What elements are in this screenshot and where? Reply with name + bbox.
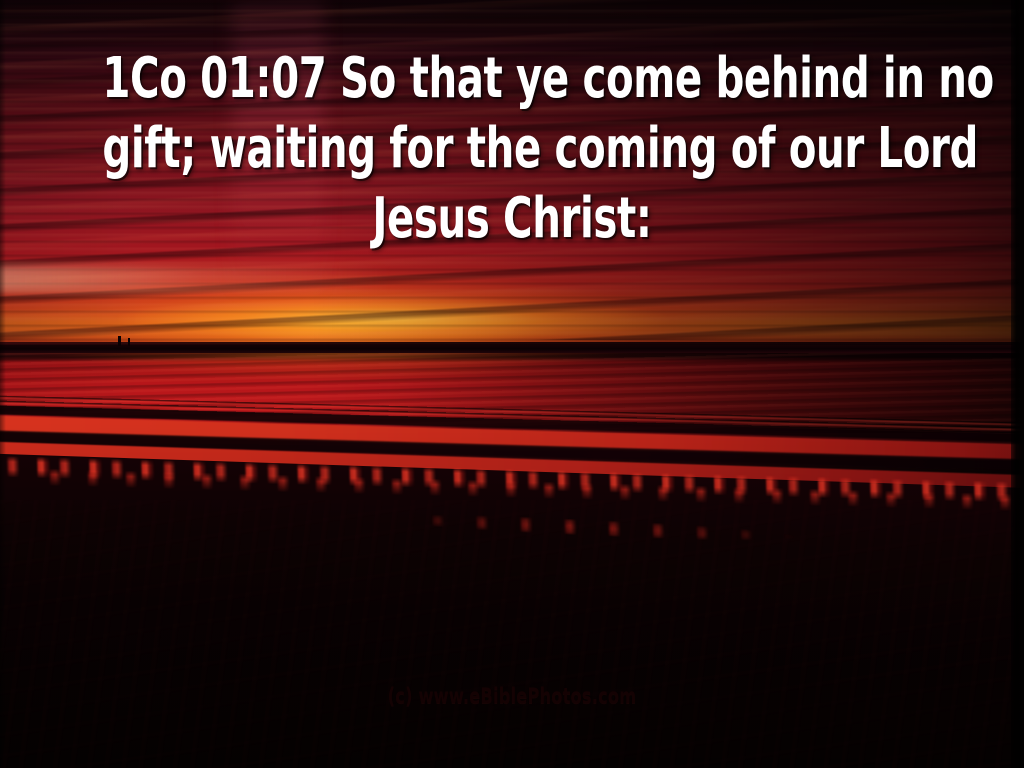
horizon-land-silhouette [0, 344, 1024, 353]
right-edge-shadow [1011, 0, 1024, 768]
watermark-text: (c) www.eBiblePhotos.com [72, 686, 953, 707]
horizon-structure-icon [128, 338, 130, 346]
left-edge-shadow [0, 0, 6, 768]
sand-texture [0, 500, 1024, 768]
verse-image-canvas: 1Co 01:07 So that ye come behind in no g… [0, 0, 1024, 768]
horizon-structure-icon [118, 336, 121, 346]
sunset-beach-photo [0, 0, 1024, 768]
